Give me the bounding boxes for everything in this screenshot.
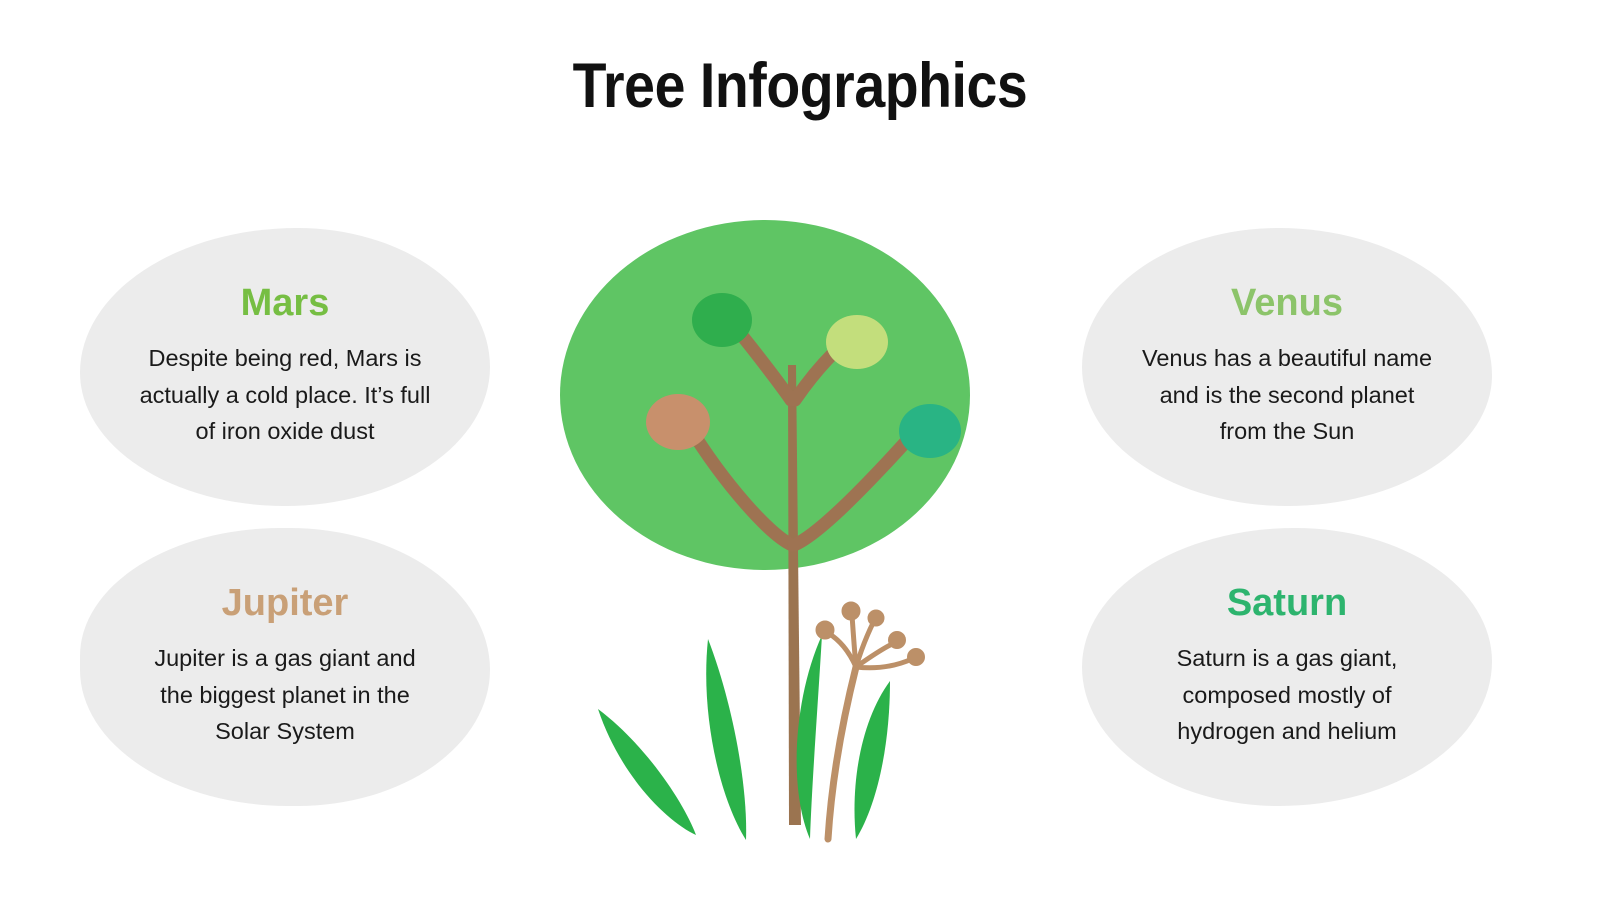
info-card-saturn[interactable]: Saturn Saturn is a gas giant, composed m… xyxy=(1082,528,1492,806)
info-card-mars[interactable]: Mars Despite being red, Mars is actually… xyxy=(80,228,490,506)
info-card-saturn-content: Saturn Saturn is a gas giant, composed m… xyxy=(1137,584,1437,750)
slide-canvas: Tree Infographics Mars Despite being red… xyxy=(0,0,1600,900)
info-card-jupiter-content: Jupiter Jupiter is a gas giant and the b… xyxy=(135,584,435,750)
page-title: Tree Infographics xyxy=(96,52,1504,121)
node-light-green-icon[interactable] xyxy=(826,315,888,369)
grass-blade-1 xyxy=(598,709,696,835)
node-teal-icon[interactable] xyxy=(899,404,961,458)
info-card-mars-body: Despite being red, Mars is actually a co… xyxy=(135,340,435,450)
info-card-jupiter-title: Jupiter xyxy=(135,584,435,624)
info-card-venus[interactable]: Venus Venus has a beautiful name and is … xyxy=(1082,228,1492,506)
info-card-mars-content: Mars Despite being red, Mars is actually… xyxy=(135,284,435,450)
info-card-saturn-title: Saturn xyxy=(1137,584,1437,624)
info-card-venus-body: Venus has a beautiful name and is the se… xyxy=(1137,340,1437,450)
info-card-venus-content: Venus Venus has a beautiful name and is … xyxy=(1137,284,1437,450)
grass-blade-4 xyxy=(854,681,890,839)
info-card-mars-title: Mars xyxy=(135,284,435,324)
info-card-saturn-body: Saturn is a gas giant, composed mostly o… xyxy=(1137,640,1437,750)
info-card-venus-title: Venus xyxy=(1137,284,1437,324)
node-dark-green-icon[interactable] xyxy=(692,293,752,347)
info-card-jupiter-body: Jupiter is a gas giant and the biggest p… xyxy=(135,640,435,750)
node-tan-icon[interactable] xyxy=(646,394,710,450)
grass-blade-2 xyxy=(706,639,746,840)
info-card-jupiter[interactable]: Jupiter Jupiter is a gas giant and the b… xyxy=(80,528,490,806)
tree-illustration xyxy=(560,215,1030,845)
